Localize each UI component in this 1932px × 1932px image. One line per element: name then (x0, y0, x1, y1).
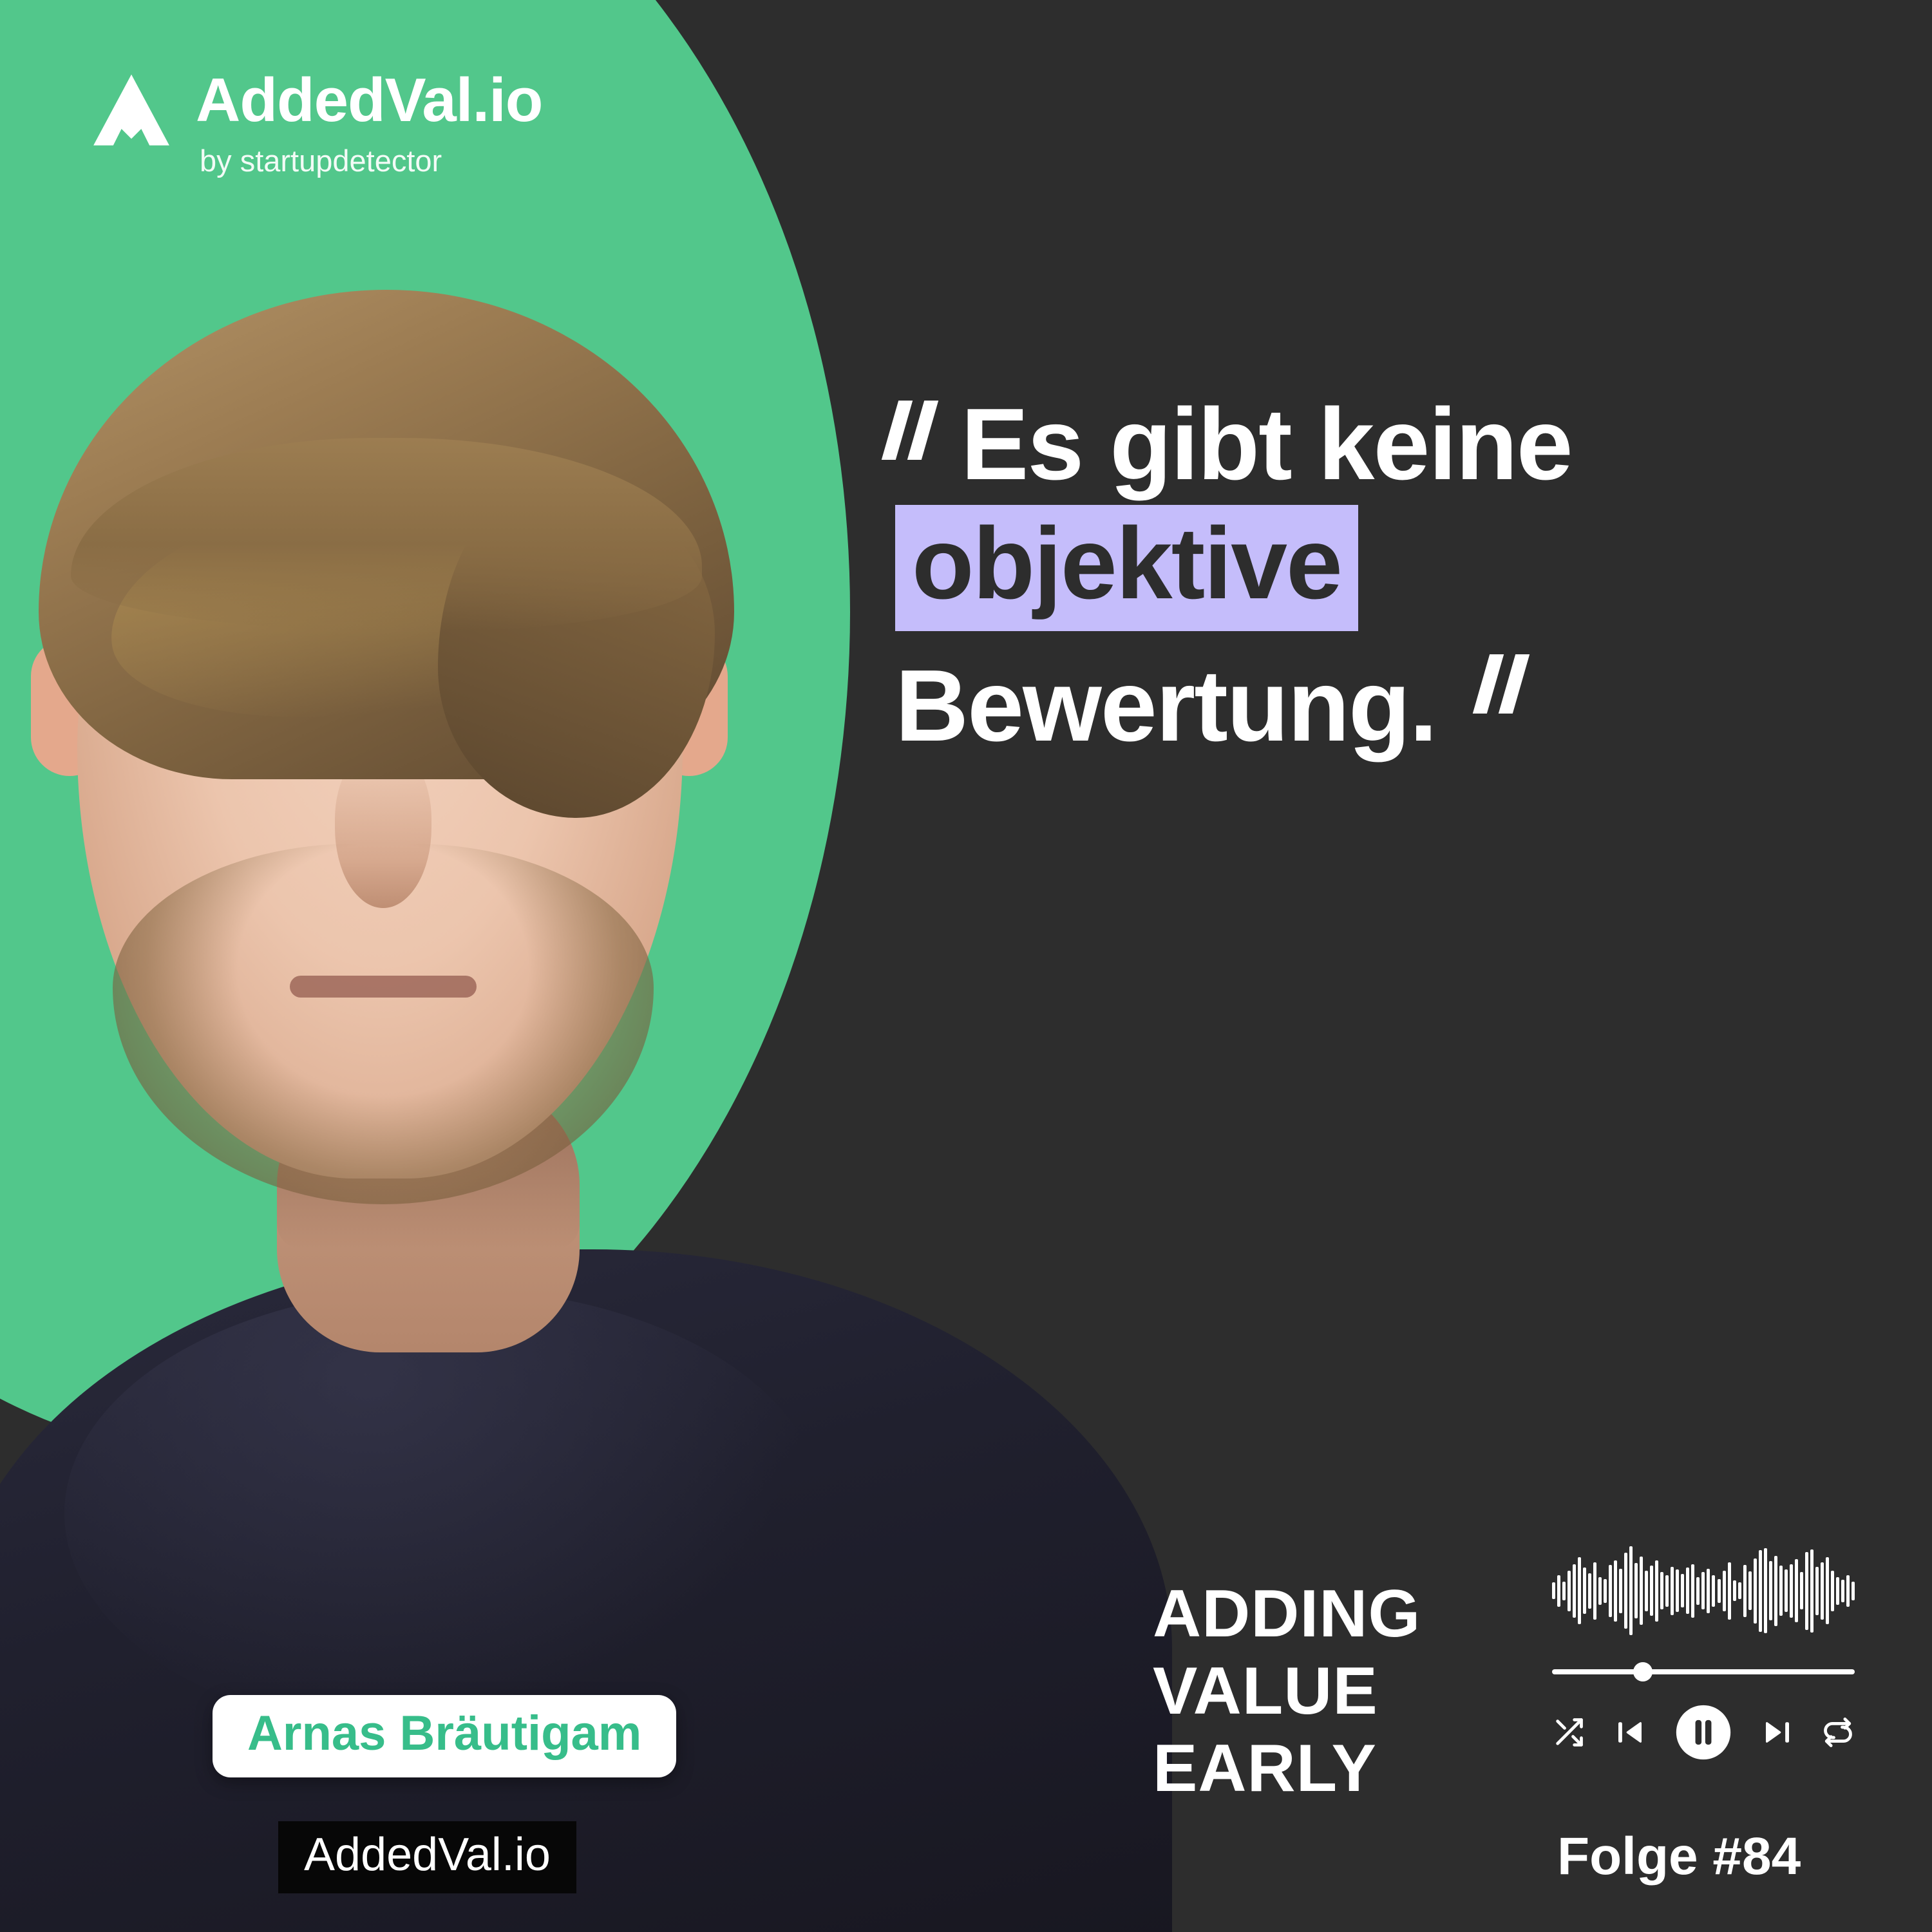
waveform-bar (1578, 1557, 1581, 1624)
waveform-bar (1593, 1562, 1596, 1620)
mountain-peak-icon (90, 70, 173, 152)
waveform-bar (1728, 1562, 1731, 1620)
waveform-bar (1609, 1565, 1612, 1617)
waveform-bar (1846, 1575, 1850, 1607)
waveform-bar (1723, 1571, 1726, 1611)
audio-waveform (1552, 1546, 1855, 1636)
waveform-bar (1573, 1564, 1576, 1618)
show-title-line-1: ADDING (1153, 1579, 1421, 1649)
next-track-icon[interactable] (1760, 1715, 1795, 1750)
waveform-bar (1671, 1567, 1674, 1615)
waveform-bar (1754, 1558, 1757, 1624)
show-title: ADDING VALUE EARLY (1153, 1579, 1421, 1803)
waveform-bar (1629, 1546, 1633, 1635)
waveform-bar (1557, 1575, 1560, 1607)
quote-line-3: Bewertung. (895, 648, 1874, 764)
player-controls (1552, 1703, 1855, 1762)
waveform-bar (1779, 1566, 1783, 1616)
waveform-bar (1800, 1572, 1803, 1609)
waveform-bar (1645, 1571, 1648, 1611)
portrait-mouth (290, 976, 477, 998)
waveform-bar (1718, 1579, 1721, 1603)
waveform-bar (1831, 1571, 1834, 1611)
waveform-bar (1826, 1557, 1829, 1624)
episode-number: Folge #84 (1557, 1826, 1801, 1887)
waveform-bar (1604, 1579, 1607, 1603)
quote-line-1: Es gibt keine (895, 386, 1874, 502)
waveform-bar (1712, 1575, 1715, 1607)
waveform-bar (1567, 1571, 1571, 1611)
show-title-line-3: EARLY (1153, 1734, 1421, 1803)
waveform-bar (1562, 1582, 1566, 1600)
waveform-bar (1836, 1577, 1839, 1605)
waveform-bar (1624, 1553, 1627, 1629)
audio-player (1552, 1546, 1855, 1762)
waveform-bar (1686, 1567, 1689, 1614)
waveform-bar (1552, 1582, 1555, 1599)
quote-line-2: objektive (895, 505, 1874, 631)
waveform-bar (1619, 1569, 1622, 1613)
waveform-bar (1851, 1582, 1855, 1600)
progress-handle[interactable] (1633, 1662, 1653, 1681)
pause-icon[interactable] (1674, 1703, 1733, 1762)
waveform-bar (1588, 1573, 1591, 1609)
waveform-bar (1821, 1562, 1824, 1620)
brand-title: AddedVal.io (196, 70, 542, 131)
waveform-bar (1785, 1569, 1788, 1612)
waveform-bar (1598, 1577, 1602, 1605)
episode-graphic: AddedVal.io by startupdetector Es gibt k… (0, 0, 1932, 1932)
waveform-bar (1583, 1567, 1586, 1614)
quote-close-mark-icon (1481, 654, 1533, 751)
quote-highlight: objektive (895, 505, 1358, 631)
progress-bar[interactable] (1552, 1669, 1855, 1674)
waveform-bar (1660, 1572, 1663, 1609)
waveform-bar (1707, 1569, 1710, 1613)
brand-subtitle: by startupdetector (200, 146, 542, 176)
brand-logo-text: AddedVal.io by startupdetector (196, 70, 542, 176)
waveform-bar (1691, 1564, 1694, 1618)
waveform-bar (1795, 1559, 1798, 1622)
waveform-bar (1701, 1572, 1705, 1609)
speaker-name-badge: Arnas Bräutigam (213, 1695, 676, 1777)
quote-block: Es gibt keine objektive Bewertung. (895, 386, 1874, 764)
speaker-name: Arnas Bräutigam (247, 1706, 641, 1761)
shuffle-icon[interactable] (1552, 1716, 1586, 1749)
quote-line-3-text: Bewertung. (895, 649, 1436, 762)
waveform-bar (1764, 1548, 1767, 1633)
speaker-site: AddedVal.io (304, 1829, 551, 1880)
portrait-shoulders (0, 1249, 1172, 1932)
waveform-bar (1676, 1569, 1679, 1612)
quote-open-mark-icon (890, 401, 942, 497)
waveform-bar (1769, 1561, 1772, 1620)
waveform-bar (1738, 1582, 1741, 1599)
speaker-site-chip: AddedVal.io (278, 1821, 576, 1893)
show-title-line-2: VALUE (1153, 1656, 1421, 1726)
repeat-icon[interactable] (1821, 1716, 1855, 1749)
waveform-bar (1841, 1580, 1844, 1602)
waveform-bar (1681, 1574, 1684, 1607)
waveform-bar (1640, 1557, 1643, 1625)
waveform-bar (1614, 1560, 1617, 1622)
waveform-bar (1665, 1575, 1669, 1607)
waveform-bar (1650, 1566, 1653, 1616)
waveform-bar (1748, 1571, 1752, 1610)
waveform-bar (1790, 1564, 1793, 1618)
waveform-bar (1815, 1567, 1819, 1615)
waveform-bar (1743, 1565, 1747, 1617)
waveform-bar (1696, 1577, 1700, 1605)
quote-line-1-text: Es gibt keine (961, 388, 1572, 501)
waveform-bar (1634, 1563, 1638, 1618)
waveform-bar (1733, 1580, 1736, 1601)
waveform-bar (1810, 1549, 1814, 1633)
waveform-bar (1805, 1552, 1808, 1630)
previous-track-icon[interactable] (1613, 1715, 1647, 1750)
waveform-bar (1774, 1556, 1777, 1626)
waveform-bar (1759, 1550, 1762, 1632)
brand-logo: AddedVal.io by startupdetector (90, 70, 542, 176)
waveform-bar (1655, 1560, 1658, 1622)
